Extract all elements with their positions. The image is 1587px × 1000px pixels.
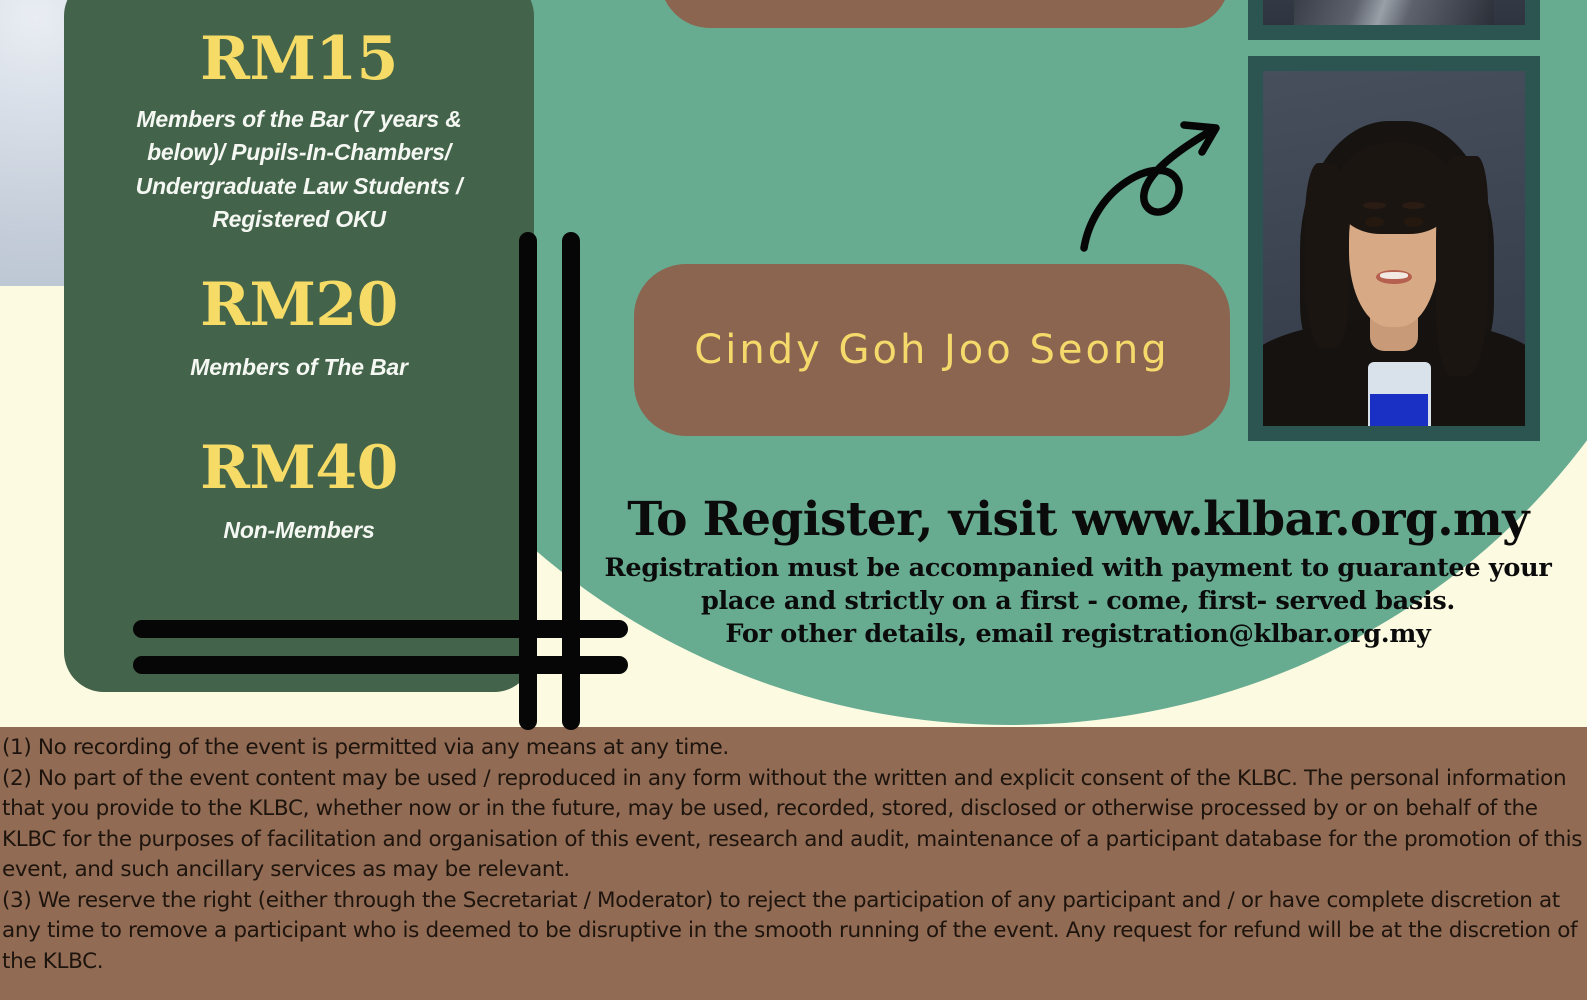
price-description-1: Members of the Bar (7 years & below)/ Pu… (98, 103, 500, 236)
curved-arrow-icon (1076, 106, 1246, 256)
portrait-eye-right (1404, 217, 1422, 228)
register-details: Registration must be accompanied with pa… (575, 552, 1581, 650)
price-amount-3: RM40 (98, 437, 500, 500)
portrait-blue-top (1370, 394, 1428, 426)
portrait-hair-left (1305, 163, 1350, 348)
pricing-tier-1: RM15 Members of the Bar (7 years & below… (98, 28, 500, 236)
register-block: To Register, visit www.klbar.org.my Regi… (575, 495, 1581, 650)
speaker-photo-frame (1248, 56, 1540, 441)
frame-inner-main (1257, 65, 1531, 432)
speaker-name-badge: Cindy Goh Joo Seong (634, 264, 1230, 436)
price-amount-2: RM20 (98, 274, 500, 337)
portrait-teeth (1380, 272, 1409, 279)
frame-inner-top (1257, 0, 1531, 31)
terms-item-2: (2) No part of the event content may be … (2, 764, 1583, 886)
register-line-2: place and strictly on a first - come, fi… (575, 585, 1581, 618)
speaker-portrait-photo (1263, 71, 1525, 426)
hash-bar-vertical-1 (519, 232, 537, 730)
price-description-2: Members of The Bar (98, 351, 500, 384)
hash-bar-horizontal-2 (133, 656, 628, 674)
hash-bar-vertical-2 (562, 232, 580, 730)
register-line-1: Registration must be accompanied with pa… (575, 552, 1581, 585)
top-brown-pill (660, 0, 1230, 28)
speaker-photo-frame-top (1248, 0, 1540, 40)
register-line-3: For other details, email registration@kl… (575, 618, 1581, 651)
register-title: To Register, visit www.klbar.org.my (575, 495, 1581, 544)
poster-canvas: RM15 Members of the Bar (7 years & below… (0, 0, 1587, 1000)
portrait-eye-left (1365, 217, 1383, 228)
pricing-tier-3: RM40 Non-Members (98, 437, 500, 547)
portrait-hair-right (1436, 156, 1488, 376)
pricing-tier-2: RM20 Members of The Bar (98, 274, 500, 384)
speaker-name-label: Cindy Goh Joo Seong (694, 327, 1169, 373)
price-amount-1: RM15 (98, 28, 500, 91)
terms-item-1: (1) No recording of the event is permitt… (2, 733, 1583, 764)
terms-item-3: (3) We reserve the right (either through… (2, 886, 1583, 978)
terms-and-conditions: (1) No recording of the event is permitt… (0, 727, 1587, 1000)
suit-photo-fragment (1263, 0, 1525, 25)
hash-bar-horizontal-1 (133, 620, 628, 638)
price-description-3: Non-Members (98, 514, 500, 547)
pricing-card: RM15 Members of the Bar (7 years & below… (64, 0, 534, 692)
